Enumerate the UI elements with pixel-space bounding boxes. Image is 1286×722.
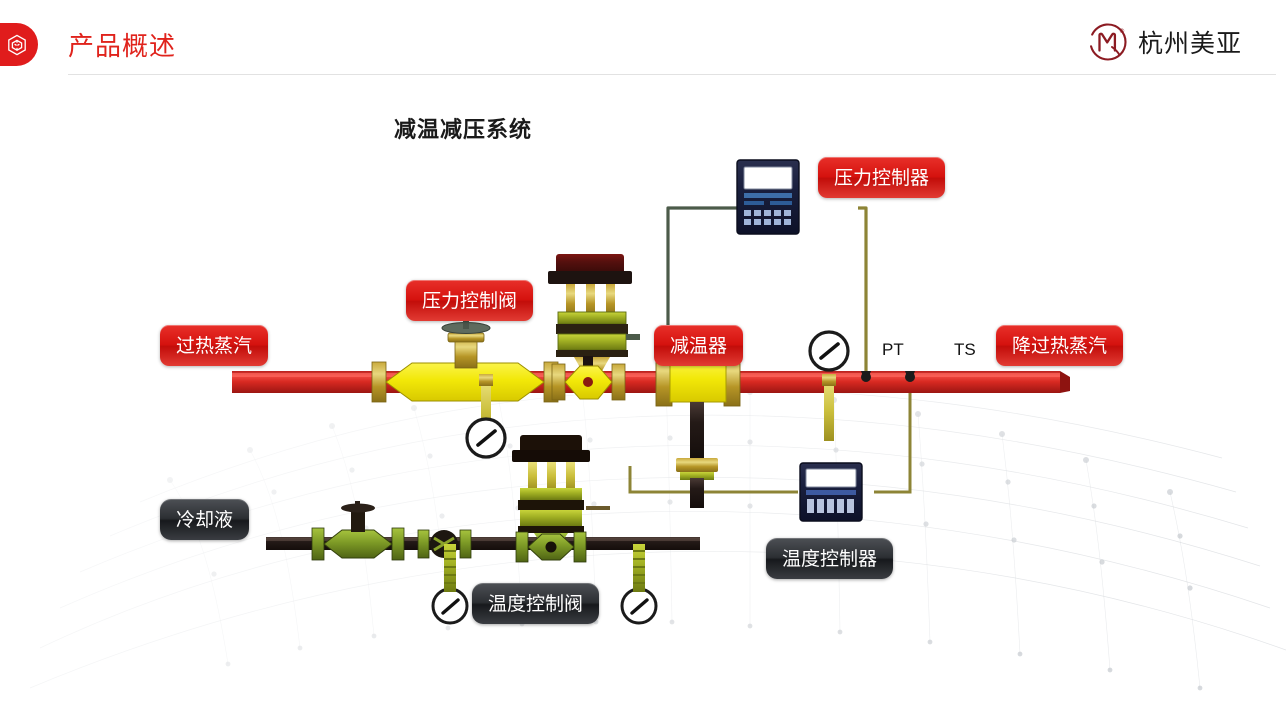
page-title: 产品概述 bbox=[68, 26, 176, 63]
pt-transmitter bbox=[861, 371, 871, 382]
main-steam-pipe bbox=[232, 371, 1070, 393]
page-header: 产品概述 ® 杭州美亚 bbox=[0, 0, 1286, 88]
pressure-controller-unit bbox=[737, 160, 799, 234]
steam-gate-valve bbox=[372, 319, 558, 402]
temperature-controller-unit bbox=[800, 463, 862, 521]
brand-name: 杭州美亚 bbox=[1138, 24, 1242, 60]
svg-text:®: ® bbox=[1119, 28, 1125, 35]
callout-pressure-controller[interactable]: 压力控制器 bbox=[818, 157, 945, 198]
callout-pressure-control-valve[interactable]: 压力控制阀 bbox=[406, 280, 533, 321]
diagram-canvas: 减温减压系统 bbox=[0, 88, 1286, 722]
callout-desuperheater[interactable]: 减温器 bbox=[654, 325, 743, 366]
callout-temperature-control-valve[interactable]: 温度控制阀 bbox=[472, 583, 599, 624]
callout-desuperheated-steam[interactable]: 降过热蒸汽 bbox=[996, 325, 1123, 366]
cube-hexagon-icon bbox=[5, 33, 29, 57]
coolant-gate-valve bbox=[312, 501, 404, 560]
coolant-gauge-right bbox=[622, 544, 656, 623]
brand-logo: ® 杭州美亚 bbox=[1086, 20, 1242, 64]
pt-tag: PT bbox=[882, 340, 904, 360]
process-schematic bbox=[0, 88, 1286, 722]
desuperheater-unit bbox=[656, 356, 740, 508]
ts-tag: TS bbox=[954, 340, 976, 360]
header-badge bbox=[0, 23, 38, 66]
header-divider bbox=[68, 74, 1276, 75]
circle-m-logo-icon: ® bbox=[1086, 20, 1130, 64]
callout-superheated-steam[interactable]: 过热蒸汽 bbox=[160, 325, 268, 366]
callout-temperature-controller[interactable]: 温度控制器 bbox=[766, 538, 893, 579]
callout-coolant[interactable]: 冷却液 bbox=[160, 499, 249, 540]
ts-transmitter bbox=[905, 371, 915, 382]
